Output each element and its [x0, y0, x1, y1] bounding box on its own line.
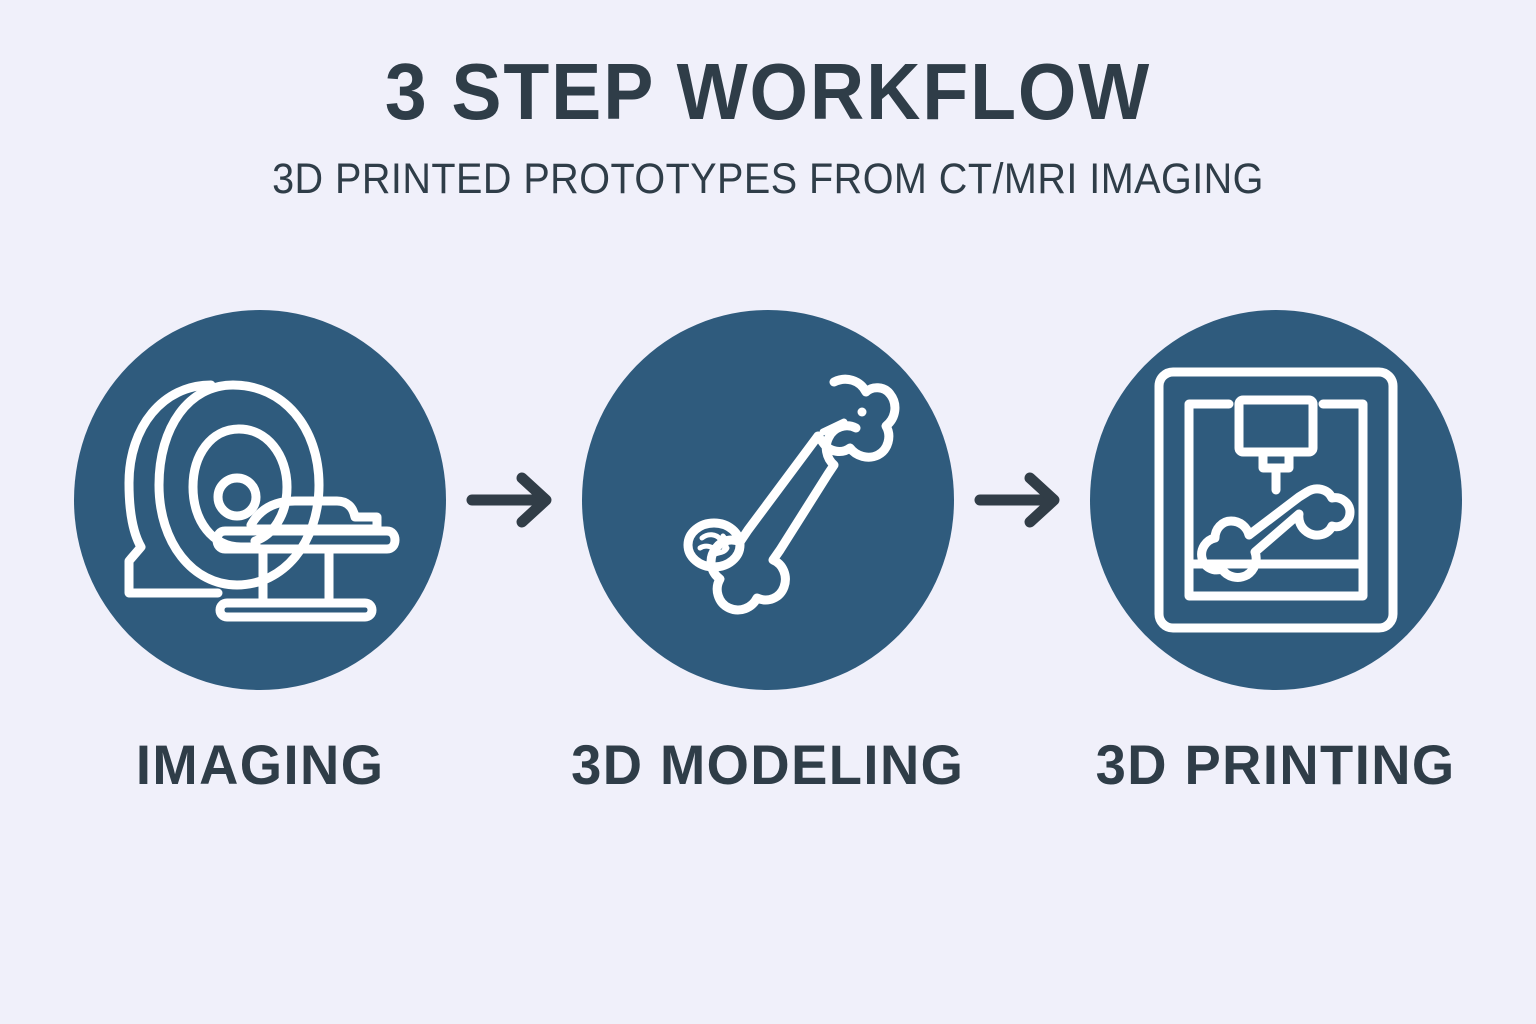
- step-imaging[interactable]: IMAGING: [71, 310, 449, 797]
- step-3d-modeling[interactable]: 3D MODELING: [579, 310, 957, 797]
- step-3d-printing-circle[interactable]: [1090, 310, 1462, 690]
- arrow-right-icon: [972, 470, 1072, 530]
- step-3d-modeling-circle[interactable]: [582, 310, 954, 690]
- 3d-printer-bone-icon: [1151, 364, 1401, 636]
- step-imaging-label: IMAGING: [136, 732, 385, 797]
- ct-mri-scanner-icon: [115, 375, 405, 625]
- step-imaging-circle[interactable]: [74, 310, 446, 690]
- header: 3 STEP WORKFLOW 3D PRINTED PROTOTYPES FR…: [0, 52, 1536, 201]
- arrow-step2-to-step3: [957, 310, 1087, 690]
- step-3d-printing[interactable]: 3D PRINTING: [1087, 310, 1465, 797]
- arrow-right-icon: [464, 470, 564, 530]
- page-subtitle: 3D PRINTED PROTOTYPES FROM CT/MRI IMAGIN…: [61, 158, 1474, 201]
- bone-model-icon: [628, 370, 908, 630]
- arrow-step1-to-step2: [449, 310, 579, 690]
- step-3d-printing-label: 3D PRINTING: [1096, 732, 1456, 797]
- workflow-steps: IMAGING: [0, 310, 1536, 830]
- page-title: 3 STEP WORKFLOW: [46, 52, 1490, 132]
- infographic-canvas: 3 STEP WORKFLOW 3D PRINTED PROTOTYPES FR…: [0, 0, 1536, 1024]
- step-3d-modeling-label: 3D MODELING: [571, 732, 964, 797]
